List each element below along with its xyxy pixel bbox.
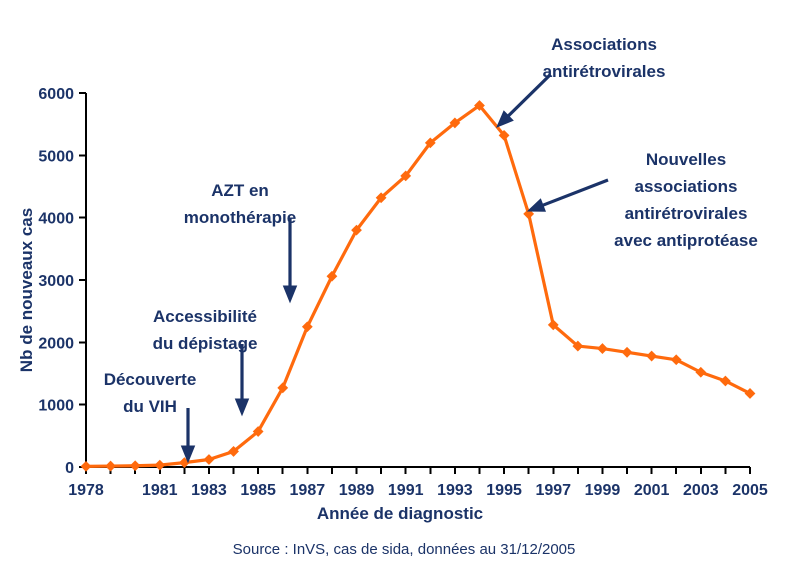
y-tick-label-6000: 6000 — [38, 86, 74, 103]
x-tick-label-1999: 1999 — [585, 482, 621, 499]
y-tick-label-5000: 5000 — [38, 148, 74, 165]
data-point-1981 — [154, 460, 165, 471]
y-axis-tick-labels: 0100020003000400050006000 — [38, 86, 74, 477]
data-point-1980 — [130, 460, 141, 471]
x-axis-tick-labels: 1978198119831985198719891991199319951997… — [68, 482, 768, 499]
data-point-1999 — [597, 343, 608, 354]
x-tick-label-1981: 1981 — [142, 482, 178, 499]
x-axis-title: Année de diagnostic — [317, 504, 483, 523]
annotation-label-azt-en-monotherapie: AZT enmonothérapie — [184, 181, 296, 227]
data-point-1978 — [81, 461, 92, 472]
y-tick-label-4000: 4000 — [38, 211, 74, 228]
annotation-label-decouverte-du-vih: Découvertedu VIH — [104, 370, 197, 416]
data-point-2002 — [671, 354, 682, 365]
x-tick-label-1997: 1997 — [535, 482, 571, 499]
y-axis-title: Nb de nouveaux cas — [17, 208, 36, 372]
x-tick-label-1995: 1995 — [486, 482, 522, 499]
annotation-arrow-head-azt-en-monotherapie — [284, 286, 297, 302]
data-point-1979 — [105, 461, 116, 472]
annotation-nouvelles-associations-antiproteas: Nouvellesassociationsantirétroviralesave… — [528, 150, 758, 250]
x-tick-label-1983: 1983 — [191, 482, 227, 499]
data-point-2003 — [695, 367, 706, 378]
x-tick-label-1987: 1987 — [290, 482, 326, 499]
data-point-1987 — [302, 321, 313, 332]
data-point-2005 — [745, 388, 756, 399]
annotation-decouverte-du-vih: Découvertedu VIH — [104, 370, 197, 462]
x-tick-label-1985: 1985 — [240, 482, 276, 499]
y-tick-label-0: 0 — [65, 460, 74, 477]
y-tick-label-1000: 1000 — [38, 398, 74, 415]
annotation-arrow-shaft-associations-antiretrovirales — [507, 75, 550, 117]
annotation-label-associations-antiretrovirales: Associationsantirétrovirales — [543, 35, 666, 81]
x-tick-label-1989: 1989 — [339, 482, 375, 499]
annotation-associations-antiretrovirales: Associationsantirétrovirales — [497, 35, 665, 127]
x-tick-label-2003: 2003 — [683, 482, 719, 499]
annotation-arrow-shaft-nouvelles-associations-antiproteas — [541, 180, 608, 206]
x-tick-label-1991: 1991 — [388, 482, 424, 499]
data-point-2004 — [720, 376, 731, 387]
annotation-azt-en-monotherapie: AZT enmonothérapie — [184, 181, 297, 302]
annotation-arrow-head-nouvelles-associations-antiproteas — [528, 199, 545, 211]
x-tick-label-2005: 2005 — [732, 482, 768, 499]
annotation-label-nouvelles-associations-antiproteas: Nouvellesassociationsantirétroviralesave… — [614, 150, 758, 250]
source-note: Source : InVS, cas de sida, données au 3… — [233, 541, 576, 558]
hiv-aids-new-cases-line-chart: 0100020003000400050006000 19781981198319… — [0, 0, 800, 577]
x-axis-ticks — [86, 467, 750, 474]
data-point-1983 — [204, 454, 215, 465]
y-tick-label-2000: 2000 — [38, 335, 74, 352]
x-tick-label-2001: 2001 — [634, 482, 670, 499]
y-axis-ticks — [79, 93, 86, 467]
data-point-2001 — [646, 351, 657, 362]
chart-figure: 0100020003000400050006000 19781981198319… — [0, 0, 800, 577]
annotation-arrow-head-accessibilite-du-depistage — [236, 399, 249, 415]
annotations: Découvertedu VIHAccessibilitédu dépistag… — [104, 35, 758, 462]
y-tick-label-3000: 3000 — [38, 273, 74, 290]
x-tick-label-1993: 1993 — [437, 482, 473, 499]
x-tick-label-1978: 1978 — [68, 482, 104, 499]
data-point-2000 — [622, 347, 633, 358]
